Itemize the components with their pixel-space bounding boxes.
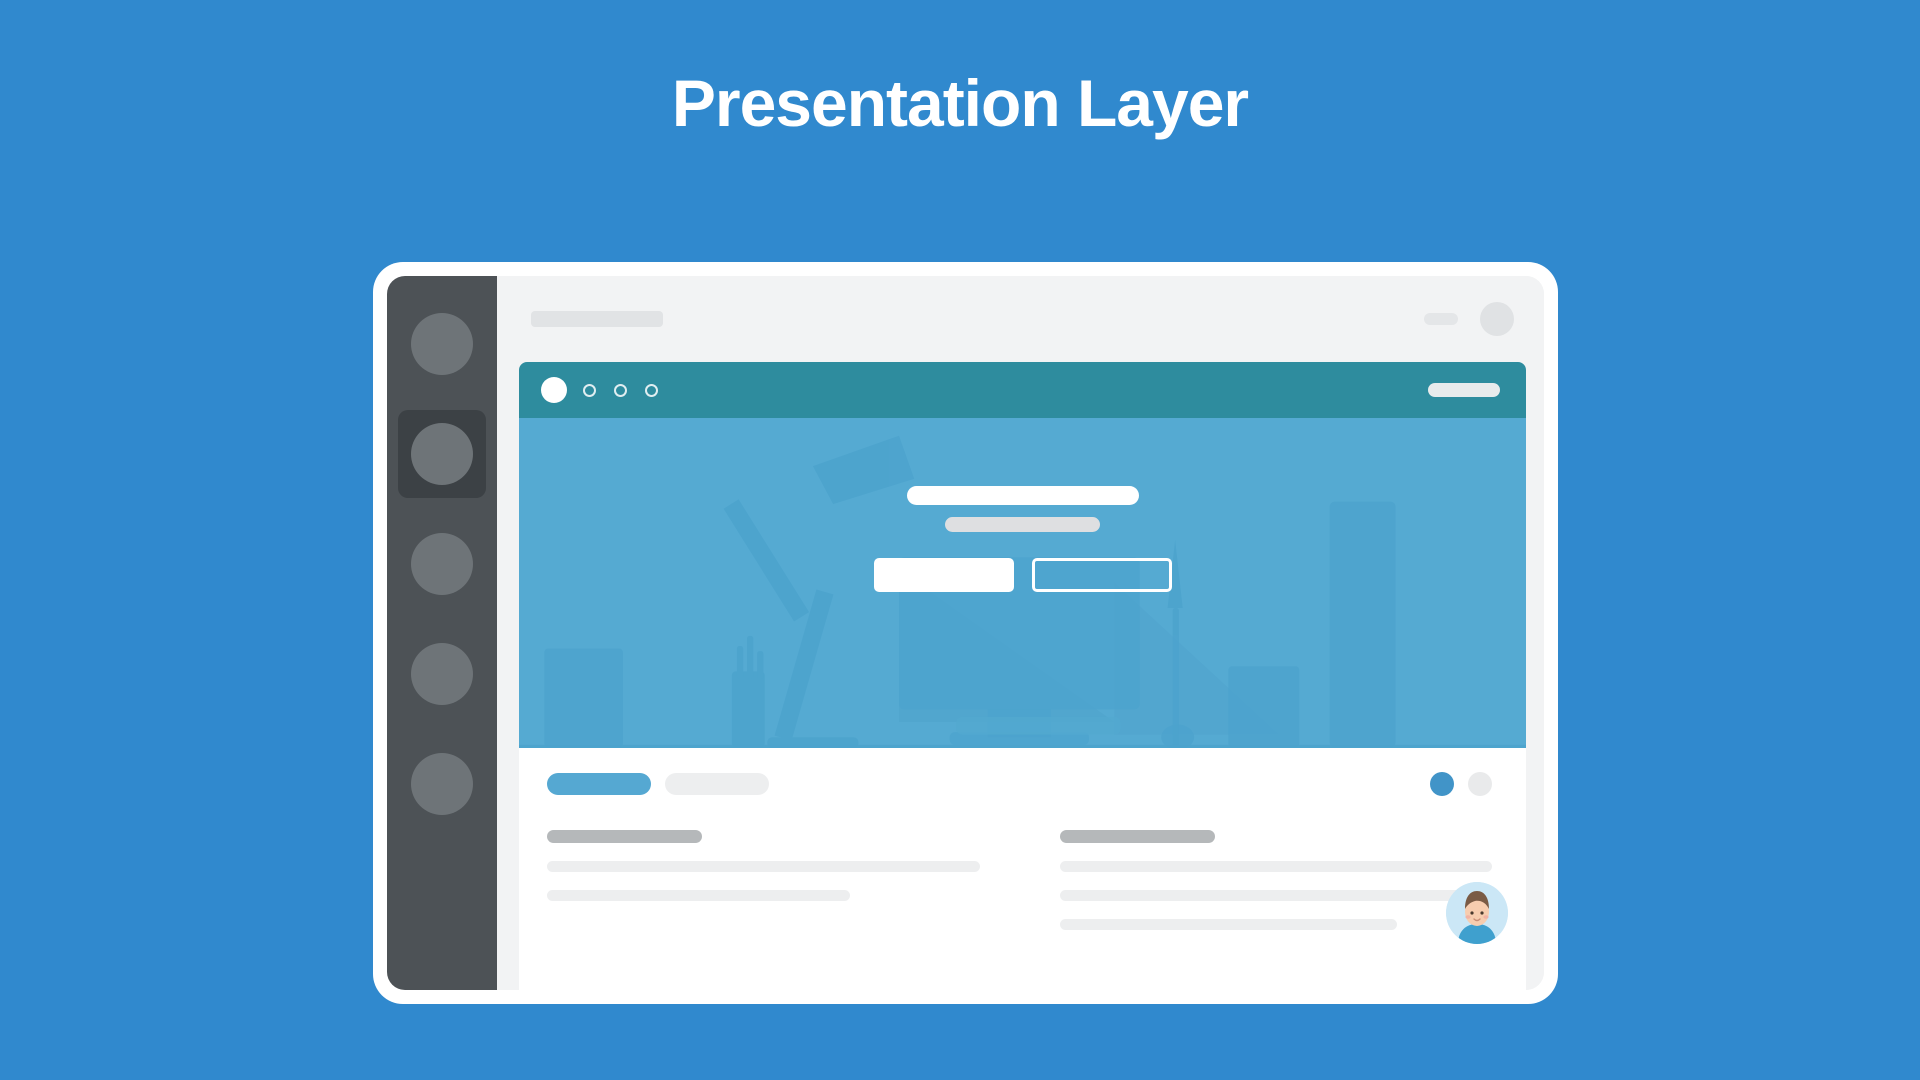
left-column [547, 830, 980, 930]
navbar-links [583, 384, 658, 397]
sidebar-item-1[interactable] [398, 300, 486, 388]
nav-dot-icon-3[interactable] [645, 384, 658, 397]
app-bar-controls [1424, 302, 1514, 336]
sidebar-circle-icon [411, 753, 473, 815]
content-header-row [547, 772, 1492, 796]
site-navbar [519, 362, 1526, 418]
text-line [1060, 919, 1397, 930]
hero-primary-button[interactable] [874, 558, 1014, 592]
navbar-cta-button[interactable] [1428, 383, 1500, 397]
app-content-column [497, 276, 1544, 990]
right-column [1060, 830, 1493, 930]
app-title-placeholder [531, 311, 663, 327]
browser-window [519, 362, 1526, 990]
hero-button-group [874, 558, 1172, 592]
sidebar-item-4[interactable] [398, 630, 486, 718]
carousel-dot-inactive[interactable] [1468, 772, 1492, 796]
sidebar-item-3[interactable] [398, 520, 486, 608]
window-inner [387, 276, 1544, 990]
hero-subheadline [945, 517, 1100, 532]
text-line [1060, 861, 1493, 872]
nav-dot-icon-2[interactable] [614, 384, 627, 397]
minimize-icon[interactable] [1424, 313, 1458, 325]
sidebar-circle-icon [411, 423, 473, 485]
app-sidebar [387, 276, 497, 990]
column-heading [547, 830, 702, 843]
tab-active[interactable] [547, 773, 651, 795]
user-avatar[interactable] [1446, 882, 1508, 944]
text-line [547, 861, 980, 872]
content-tabs [547, 773, 769, 795]
page-root: Presentation Layer [0, 0, 1920, 1080]
text-line [547, 890, 850, 901]
tab-inactive[interactable] [665, 773, 769, 795]
text-line [1060, 890, 1493, 901]
sidebar-item-5[interactable] [398, 740, 486, 828]
content-columns [547, 830, 1492, 930]
sidebar-item-2[interactable] [398, 410, 486, 498]
hero-copy [519, 486, 1526, 592]
page-title: Presentation Layer [0, 70, 1920, 136]
nav-dot-icon-1[interactable] [583, 384, 596, 397]
person-avatar-icon [1446, 882, 1508, 944]
device-window-frame [373, 262, 1558, 1004]
carousel-dots [1430, 772, 1492, 796]
hero-section [519, 418, 1526, 748]
hero-headline [907, 486, 1139, 505]
brand-logo-icon[interactable] [541, 377, 567, 403]
sidebar-circle-icon [411, 643, 473, 705]
carousel-dot-active[interactable] [1430, 772, 1454, 796]
app-title-bar [497, 276, 1544, 362]
sidebar-circle-icon [411, 313, 473, 375]
browser-content-body [519, 748, 1526, 990]
hero-secondary-button[interactable] [1032, 558, 1172, 592]
avatar-circle-icon[interactable] [1480, 302, 1514, 336]
sidebar-circle-icon [411, 533, 473, 595]
column-heading [1060, 830, 1215, 843]
